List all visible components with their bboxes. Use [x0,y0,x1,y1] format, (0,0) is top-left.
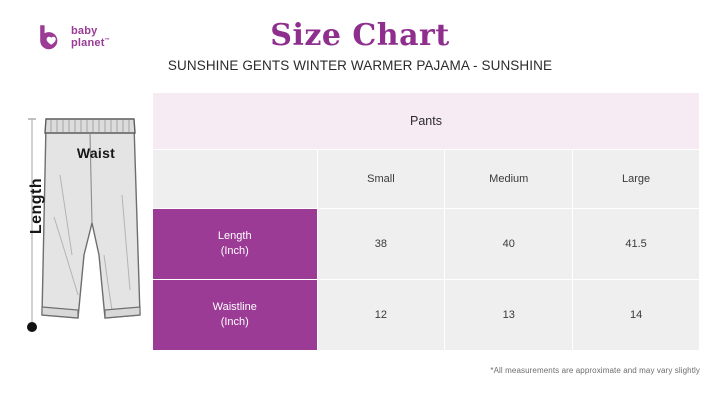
waist-axis-label: Waist [46,145,146,161]
row-label-waistline-line2: (Inch) [221,316,249,328]
table-header-row: Small Medium Large [153,150,699,208]
value-length-medium: 40 [445,209,572,279]
table-row: Waistline (Inch) 12 13 14 [153,280,699,350]
header-cell-blank [153,150,317,208]
value-length-large: 41.5 [573,209,699,279]
row-label-length-line2: (Inch) [221,245,249,257]
value-length-small: 38 [318,209,445,279]
value-waistline-large: 14 [573,280,699,350]
header-cell-small: Small [318,150,445,208]
pants-illustration: Length Waist [8,105,153,350]
row-label-length: Length (Inch) [153,209,317,279]
size-chart-page: baby planet™ Size Chart SUNSHINE GENTS W… [0,0,720,405]
header-cell-large: Large [573,150,699,208]
table-row: Length (Inch) 38 40 41.5 [153,209,699,279]
table-title-cell: Pants [153,93,699,149]
row-label-waistline: Waistline (Inch) [153,280,317,350]
length-axis-label: Length [28,161,46,251]
size-chart-table: Pants Small Medium Large [152,92,700,351]
header-cell-medium: Medium [445,150,572,208]
value-waistline-medium: 13 [445,280,572,350]
page-subtitle: SUNSHINE GENTS WINTER WARMER PAJAMA - SU… [0,58,720,73]
footnote-text: *All measurements are approximate and ma… [490,366,700,375]
table-title-row: Pants [153,93,699,149]
row-label-waistline-line1: Waistline [213,301,257,313]
row-label-length-line1: Length [218,230,252,242]
page-title: Size Chart [0,18,720,53]
value-waistline-small: 12 [318,280,445,350]
